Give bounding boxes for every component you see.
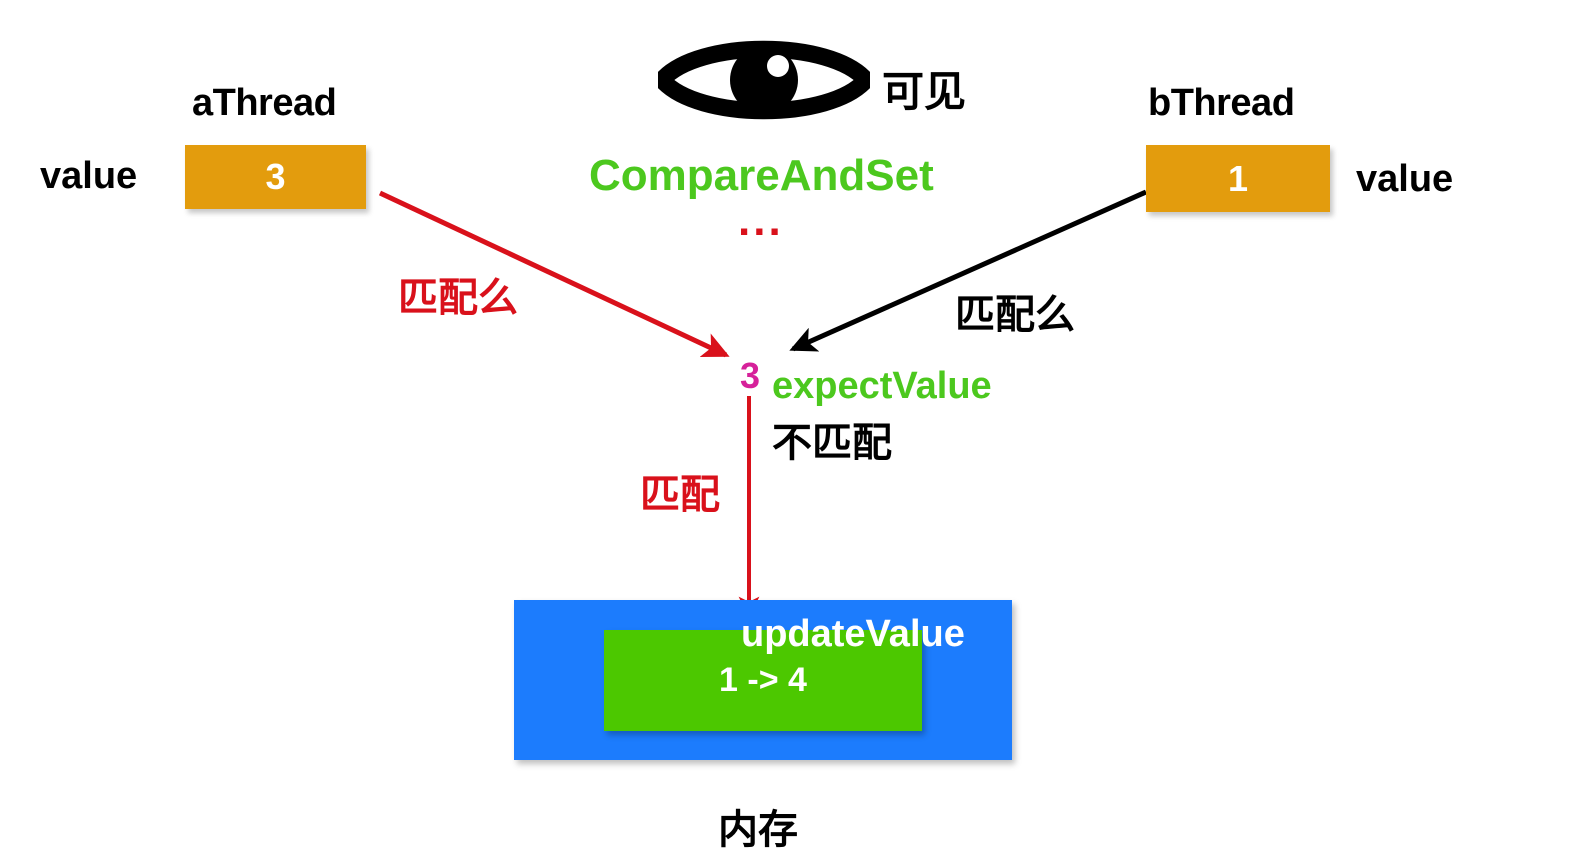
compare-and-set-label: CompareAndSet bbox=[589, 151, 934, 201]
athread-value-label: value bbox=[40, 155, 137, 198]
memory-caption: 内存 bbox=[718, 797, 798, 855]
bthread-value-label: value bbox=[1356, 158, 1453, 201]
match-label: 匹配 bbox=[640, 462, 720, 520]
left-match-question-label: 匹配么 bbox=[398, 265, 518, 323]
diagram-canvas: aThread value 3 bThread value 1 可见 Compa… bbox=[0, 0, 1576, 866]
athread-value-box[interactable]: 3 bbox=[185, 145, 366, 209]
bthread-title: bThread bbox=[1148, 82, 1294, 125]
bthread-value-text: 1 bbox=[1228, 161, 1248, 197]
memory-transition-text: 1 -> 4 bbox=[719, 661, 807, 700]
expect-value-label: expectValue bbox=[772, 365, 992, 408]
bthread-value-box[interactable]: 1 bbox=[1146, 145, 1330, 212]
athread-title: aThread bbox=[192, 82, 336, 125]
athread-value-text: 3 bbox=[265, 159, 285, 195]
visible-label: 可见 bbox=[882, 58, 966, 119]
update-value-label: updateValue bbox=[741, 613, 965, 656]
eye-icon bbox=[658, 33, 870, 127]
mismatch-label: 不匹配 bbox=[772, 410, 892, 468]
expect-value-number: 3 bbox=[740, 355, 760, 397]
ellipsis-label: ... bbox=[738, 196, 784, 246]
right-match-question-label: 匹配么 bbox=[955, 282, 1075, 340]
